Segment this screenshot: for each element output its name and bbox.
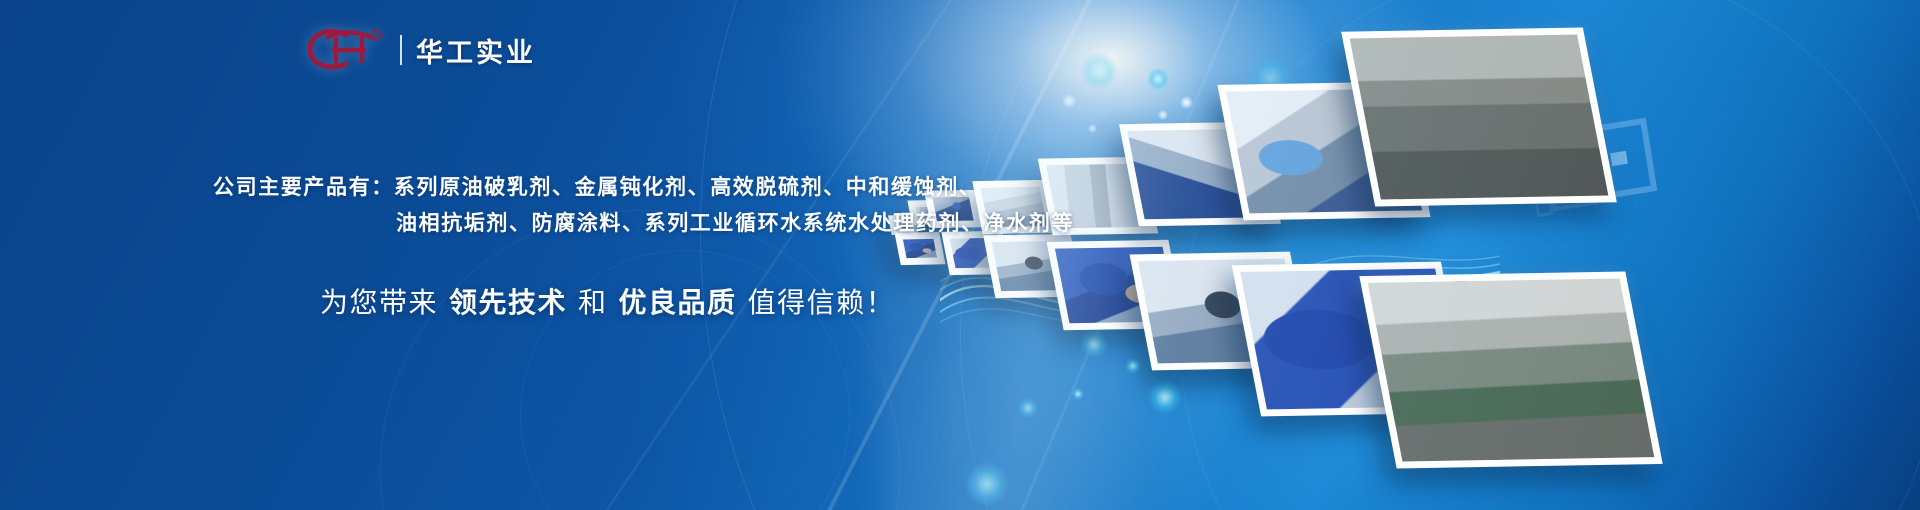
product-line-2: 油相抗垢剂、防腐涂料、系列工业循环水系统水处理药剂、净水剂等: [396, 207, 1074, 237]
tagline-emphasis-1: 领先技术: [449, 287, 567, 318]
tagline-part-1: 为您带来: [320, 287, 438, 318]
collage-photo: [1341, 28, 1617, 207]
tagline-part-2: 和: [578, 287, 608, 318]
promo-banner: R 华工实业 公司主要产品有：系列原油破乳剂、金属钝化剂、高效脱硫剂、中和缓蚀剂…: [0, 0, 1920, 510]
logo-divider: [400, 35, 402, 65]
tagline-part-3: 值得信赖！: [748, 287, 896, 318]
product-line-1: 公司主要产品有：系列原油破乳剂、金属钝化剂、高效脱硫剂、中和缓蚀剂、: [213, 171, 981, 201]
ch-monogram-mark-icon: R: [300, 25, 386, 75]
logo-company-name: 华工实业: [416, 31, 536, 70]
tagline-emphasis-2: 优良品质: [619, 287, 737, 318]
perspective-photo-stream: [880, 0, 1920, 510]
collage-photo: [1359, 271, 1662, 468]
company-logo[interactable]: R 华工实业: [300, 22, 536, 78]
concentric-arc-lines: [380, 210, 900, 510]
tagline: 为您带来领先技术和优良品质值得信赖！: [320, 281, 895, 321]
svg-text:R: R: [374, 34, 378, 40]
